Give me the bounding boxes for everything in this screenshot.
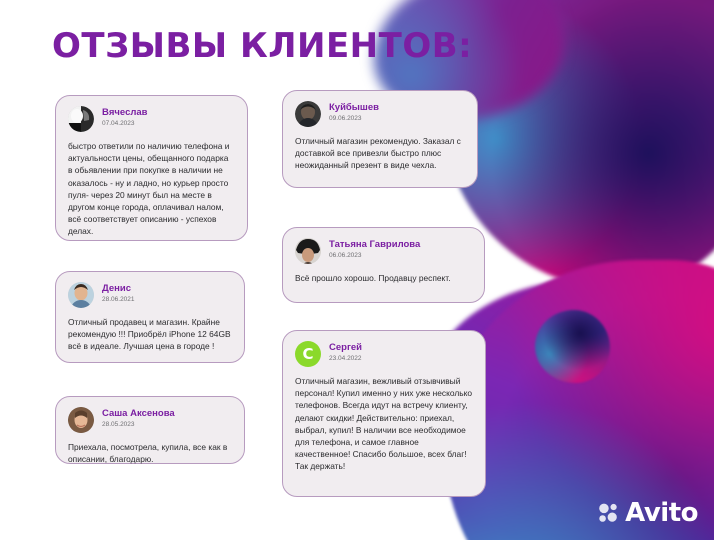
review-text: Отличный магазин, вежливый отзывчивый пе… [295,375,473,473]
poster-canvas: ОТЗЫВЫ КЛИЕНТОВ: Вячеслав 07.04.202 [0,0,714,540]
review-author-name: Денис [102,283,135,294]
review-date: 09.06.2023 [329,114,379,123]
review-date: 28.05.2023 [102,420,175,429]
gradient-blob-small-circle [535,310,610,383]
review-header: С Сергей 23.04.2022 [295,341,473,367]
photo-avatar-icon [68,407,94,433]
photo-avatar-icon [295,101,321,127]
photo-avatar-icon [295,238,321,264]
review-card-tatyana: Татьяна Гаврилова 06.06.2023 Всё прошло … [282,227,485,303]
review-author-name: Саша Аксенова [102,408,175,419]
review-author-block: Сергей 23.04.2022 [329,341,362,363]
review-text: Отличный продавец и магазин. Крайне реко… [68,316,232,353]
review-author-name: Сергей [329,342,362,353]
page-title: ОТЗЫВЫ КЛИЕНТОВ: [52,27,472,65]
review-text: Всё прошло хорошо. Продавцу респект. [295,272,472,284]
review-header: Саша Аксенова 28.05.2023 [68,407,232,433]
avatar-sergey: С [295,341,321,367]
review-text: Приехала, посмотрела, купила, все как в … [68,441,232,465]
photo-avatar-icon [68,282,94,308]
review-author-block: Татьяна Гаврилова 06.06.2023 [329,238,420,260]
avito-wordmark: Avito [625,500,698,526]
review-card-sasha: Саша Аксенова 28.05.2023 Приехала, посмо… [55,396,245,464]
review-author-block: Вячеслав 07.04.2023 [102,106,148,128]
review-header: Денис 28.06.2021 [68,282,232,308]
avatar-denis [68,282,94,308]
review-header: Вячеслав 07.04.2023 [68,106,235,132]
review-header: Куйбышев 09.06.2023 [295,101,465,127]
review-date: 23.04.2022 [329,354,362,363]
review-author-block: Саша Аксенова 28.05.2023 [102,407,175,429]
avito-logo: Avito [598,500,698,526]
avito-dots-icon [598,502,620,524]
avatar-vyacheslav [68,106,94,132]
review-text: быстро ответили по наличию телефона и ак… [68,140,235,238]
review-card-kuybyshev: Куйбышев 09.06.2023 Отличный магазин рек… [282,90,478,188]
review-card-sergey: С Сергей 23.04.2022 Отличный магазин, ве… [282,330,486,497]
review-date: 28.06.2021 [102,295,135,304]
review-author-name: Вячеслав [102,107,148,118]
review-header: Татьяна Гаврилова 06.06.2023 [295,238,472,264]
review-card-denis: Денис 28.06.2021 Отличный продавец и маг… [55,271,245,363]
review-author-block: Куйбышев 09.06.2023 [329,101,379,123]
review-text: Отличный магазин рекомендую. Заказал с д… [295,135,465,172]
review-date: 07.04.2023 [102,119,148,128]
review-author-name: Куйбышев [329,102,379,113]
photo-avatar-icon [68,106,94,132]
review-author-name: Татьяна Гаврилова [329,239,420,250]
avatar-kuybyshev [295,101,321,127]
review-author-block: Денис 28.06.2021 [102,282,135,304]
avatar-sasha [68,407,94,433]
avatar-tatyana [295,238,321,264]
avatar-letter: С [302,341,313,367]
review-date: 06.06.2023 [329,251,420,260]
review-card-vyacheslav: Вячеслав 07.04.2023 быстро ответили по н… [55,95,248,241]
